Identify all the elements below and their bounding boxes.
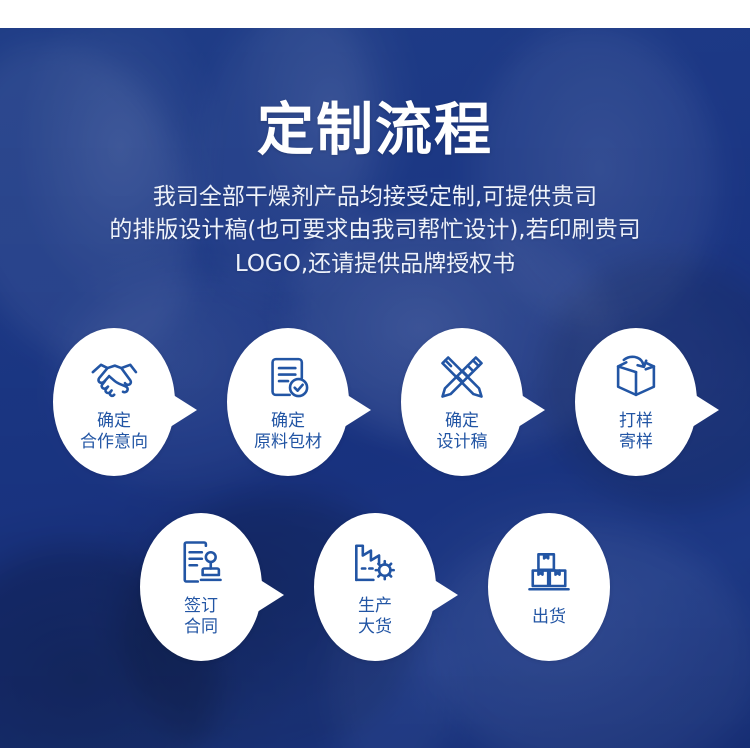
flow-step-label-line2: 合同 xyxy=(184,617,218,638)
subtitle-line-2: 的排版设计稿(也可要求由我司帮忙设计),若印刷贵司 xyxy=(0,214,750,247)
factory-gear-icon xyxy=(349,536,401,588)
flow-step-label-line2: 寄样 xyxy=(619,432,653,453)
flow-step-label-line1: 出货 xyxy=(532,607,566,627)
flow-step-label-line2: 设计稿 xyxy=(437,432,488,453)
document-check-icon xyxy=(262,351,314,403)
flow-step-label-line1: 生产 xyxy=(358,596,392,616)
flow-step-sampling[interactable]: 打样 寄样 xyxy=(575,328,697,476)
subtitle-line-3: LOGO,还请提供品牌授权书 xyxy=(0,248,750,281)
flow-step-label-line2: 原料包材 xyxy=(254,432,322,453)
flow-step-label-line2: 合作意向 xyxy=(80,432,148,453)
flow-step-label-line1: 确定 xyxy=(445,411,479,431)
page-title: 定制流程 xyxy=(0,28,750,159)
flow-step-shipment[interactable]: 出货 xyxy=(488,513,610,661)
handshake-icon xyxy=(88,351,140,403)
flow-step-label: 出货 xyxy=(532,607,566,628)
flow-row-2: 签订 合同 xyxy=(0,513,750,661)
stacked-boxes-icon xyxy=(523,547,575,599)
flow-step-label: 生产 大货 xyxy=(358,596,392,637)
flow-step-label: 确定 设计稿 xyxy=(437,411,488,452)
subtitle-line-1: 我司全部干燥剂产品均接受定制,可提供贵司 xyxy=(0,181,750,214)
flow-step-label: 签订 合同 xyxy=(184,596,218,637)
open-box-arrow-icon xyxy=(610,351,662,403)
flow-step-label: 打样 寄样 xyxy=(619,411,653,452)
flow-step-confirm-design[interactable]: 确定 设计稿 xyxy=(401,328,523,476)
contract-stamp-icon xyxy=(175,536,227,588)
top-white-strip xyxy=(0,0,750,28)
header-block: 定制流程 我司全部干燥剂产品均接受定制,可提供贵司 的排版设计稿(也可要求由我司… xyxy=(0,28,750,281)
flow-step-confirm-cooperation[interactable]: 确定 合作意向 xyxy=(53,328,175,476)
flow-step-label-line1: 打样 xyxy=(619,411,653,431)
flow-step-label: 确定 原料包材 xyxy=(254,411,322,452)
flow-step-label-line1: 确定 xyxy=(97,411,131,431)
flow-step-sign-contract[interactable]: 签订 合同 xyxy=(140,513,262,661)
custom-process-poster: 定制流程 我司全部干燥剂产品均接受定制,可提供贵司 的排版设计稿(也可要求由我司… xyxy=(0,0,750,748)
flow-step-mass-production[interactable]: 生产 大货 xyxy=(314,513,436,661)
flow-step-confirm-materials[interactable]: 确定 原料包材 xyxy=(227,328,349,476)
flow-step-label-line1: 签订 xyxy=(184,596,218,616)
flow-step-label-line2: 大货 xyxy=(358,617,392,638)
flow-step-label: 确定 合作意向 xyxy=(80,411,148,452)
pencil-ruler-icon xyxy=(436,351,488,403)
flow-step-label-line1: 确定 xyxy=(271,411,305,431)
page-subtitle: 我司全部干燥剂产品均接受定制,可提供贵司 的排版设计稿(也可要求由我司帮忙设计)… xyxy=(0,159,750,281)
flow-row-1: 确定 合作意向 xyxy=(0,328,750,476)
